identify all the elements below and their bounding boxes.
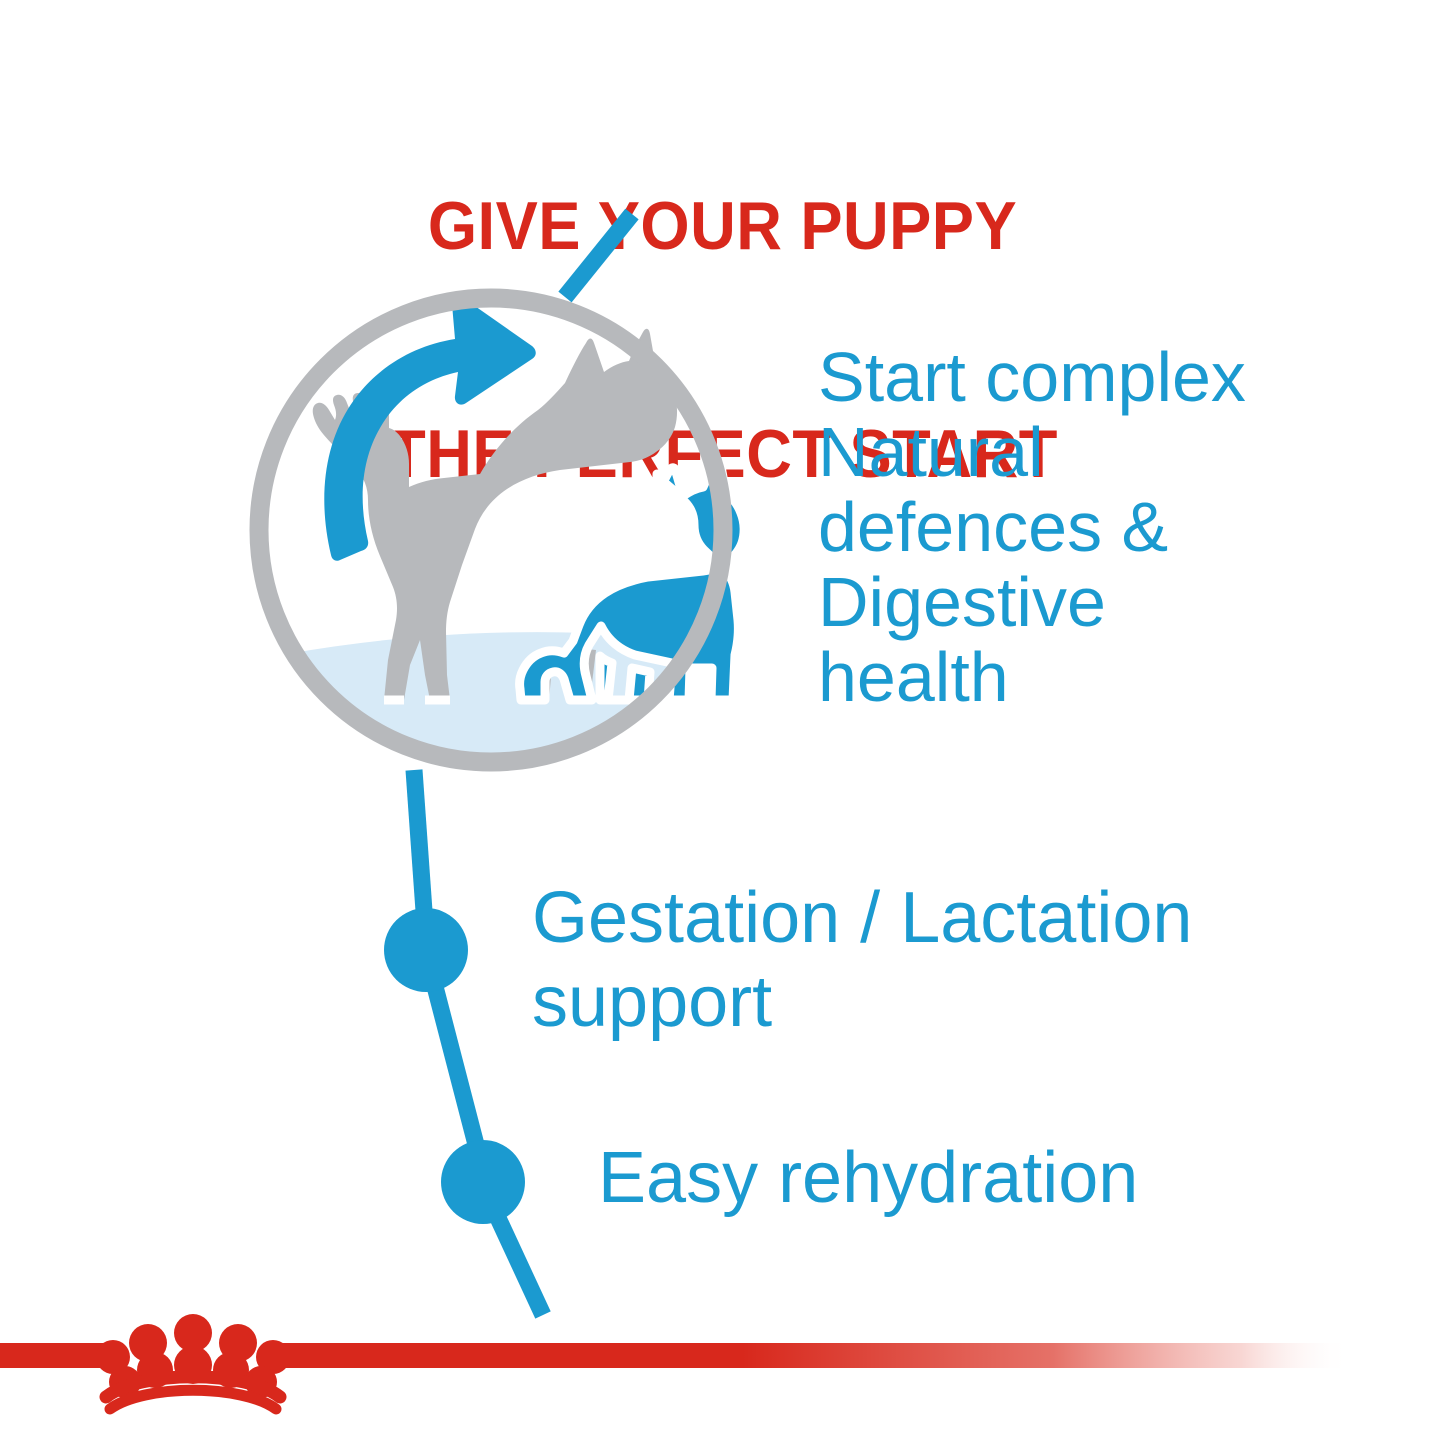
bullet-text-easy-rehydration: Easy rehydration [598,1136,1438,1220]
connector-segment-upper [414,770,425,925]
bullet-text-start-complex: Start complex Natural defences & Digesti… [818,340,1418,715]
connector-segment-middle [432,975,480,1160]
connector-dot-1 [384,908,468,992]
connector-segment-top [565,214,632,297]
growth-circle-icon [240,295,760,790]
connector-segment-lower [492,1205,543,1315]
artwork-layer [0,0,1445,1445]
bullet-text-gestation-lactation: Gestation / Lactation support [532,876,1445,1044]
connector-dot-2 [441,1140,525,1224]
royal-canin-crown-logo [96,1314,290,1409]
poster-canvas: GIVE YOUR PUPPY THE PERFECT START [0,0,1445,1445]
